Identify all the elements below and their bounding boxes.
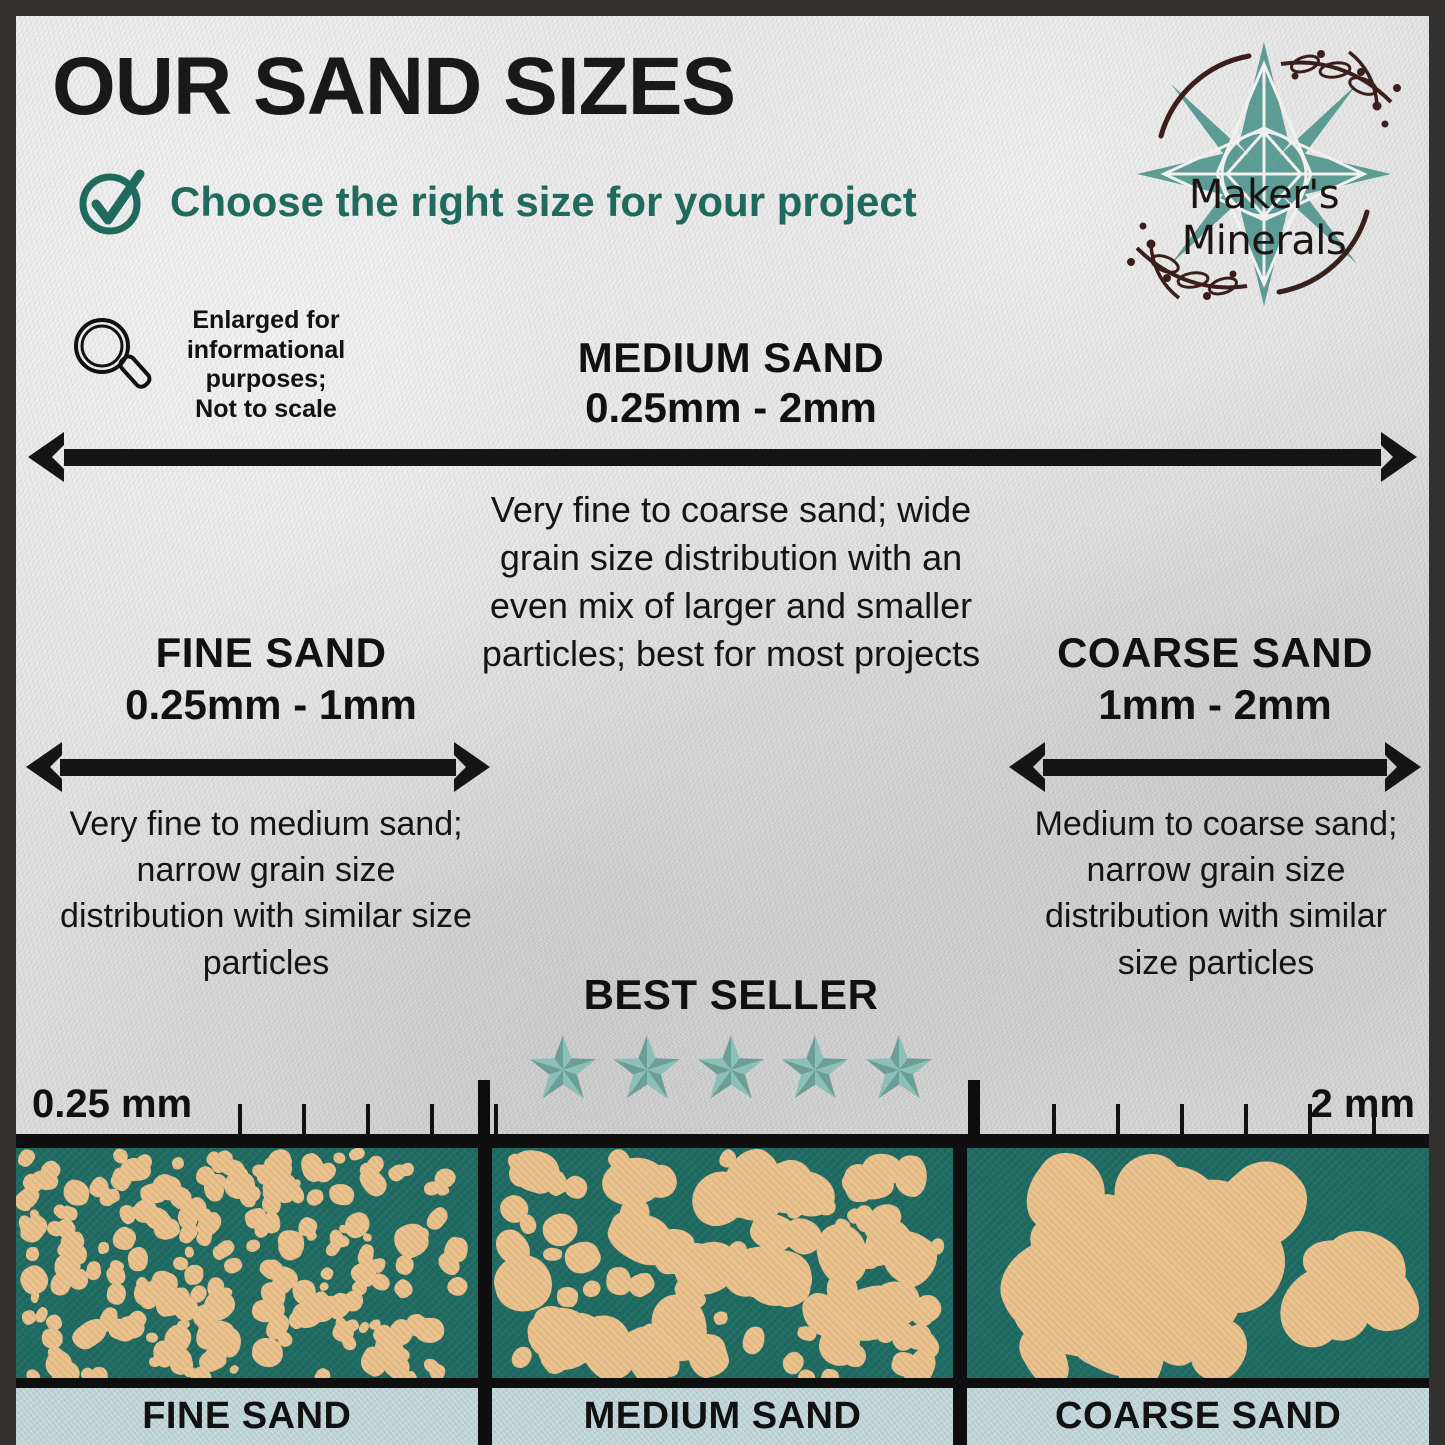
sand-grain [126,1246,148,1272]
sand-swatch-coarse-sand [967,1148,1429,1378]
sand-swatch-fine-sand [16,1148,478,1378]
sand-grain [306,1188,325,1206]
sand-grain [26,1246,40,1261]
sand-grain [205,1173,226,1189]
subtitle-row: Choose the right size for your project [76,166,917,238]
sand-grain [414,1317,444,1343]
brand-name: Maker's Minerals [1109,172,1419,264]
sand-grain [319,1265,335,1281]
sand-grain [222,1255,244,1275]
sand-grain [328,1183,355,1206]
ruler-minor-tick [1244,1104,1248,1138]
ruler-minor-tick [1372,1104,1376,1138]
sand-grain [741,1325,767,1356]
fine-sand-heading: FINE SAND 0.25mm - 1mm [36,629,506,729]
coarse-sand-name: COARSE SAND [1001,629,1429,677]
sand-grain [90,1366,110,1378]
sand-grain [712,1310,728,1325]
subtitle-text: Choose the right size for your project [170,178,917,226]
sand-grain [228,1363,240,1375]
disclaimer-block: Enlarged for informational purposes; Not… [66,306,366,424]
sand-sample-column: COARSE SAND [967,1148,1429,1445]
sand-grain [626,1177,646,1194]
sand-grain [543,1247,563,1262]
sand-grain [16,1261,53,1299]
sand-grain [423,1203,452,1233]
ruler-minor-tick [430,1104,434,1138]
sand-grain [892,1153,929,1198]
disclaimer-line-3: purposes; [166,365,366,395]
ruler-minor-tick [1052,1104,1056,1138]
sand-grain [98,1241,110,1253]
sand-grain [581,1278,603,1300]
coarse-sand-heading: COARSE SAND 1mm - 2mm [1001,629,1429,729]
sand-grain [206,1276,225,1299]
sand-grain [556,1286,578,1307]
coarse-sand-range: 1mm - 2mm [1001,681,1429,729]
fine-sand-range-arrow [16,738,500,796]
sand-grain [510,1345,533,1370]
disclaimer-text: Enlarged for informational purposes; Not… [166,306,366,424]
medium-sand-description: Very fine to coarse sand; wide grain siz… [466,486,996,678]
sand-grain [97,1186,110,1196]
sand-grain [184,1247,194,1258]
ruler-major-tick [968,1080,980,1138]
coarse-sand-range-arrow [1001,738,1429,796]
ruler-left-label: 0.25 mm [32,1082,192,1127]
sand-grain [183,1264,203,1285]
medium-sand-name: MEDIUM SAND [446,334,1016,381]
medium-sand-range-arrow [18,428,1427,486]
sand-grain [534,1305,568,1342]
ruler-minor-tick [1116,1104,1120,1138]
sand-sample-label: COARSE SAND [967,1388,1429,1445]
fine-sand-description: Very fine to medium sand; narrow grain s… [56,801,476,986]
sand-sample-column: FINE SAND [16,1148,478,1445]
page-title: OUR SAND SIZES [52,46,735,128]
fine-sand-name: FINE SAND [36,629,506,677]
sand-grain [245,1239,261,1253]
magnifier-icon [66,314,152,404]
sand-grain [333,1151,347,1164]
poster-frame: OUR SAND SIZES Choose the right size for… [0,0,1445,1445]
ruler-minor-tick [1308,1104,1312,1138]
sand-sample-label: FINE SAND [16,1388,478,1445]
scale-ruler: 0.25 mm 2 mm [16,1078,1429,1138]
sand-sample-label: MEDIUM SAND [492,1388,954,1445]
ruler-minor-tick [494,1104,498,1138]
ruler-major-tick [478,1080,490,1138]
sand-grain [391,1277,415,1301]
brand-logo: Maker's Minerals [1109,24,1419,324]
sand-grain [362,1232,372,1242]
medium-sand-range: 0.25mm - 2mm [446,383,1016,433]
sand-grain [444,1273,470,1299]
sand-grain [821,1368,839,1377]
coarse-sand-description: Medium to coarse sand; narrow grain size… [1016,801,1416,986]
sand-sample-strip: FINE SANDMEDIUM SANDCOARSE SAND [16,1134,1429,1445]
sand-grain [312,1366,333,1377]
sand-grain [204,1346,226,1369]
sand-grain [60,1178,91,1208]
disclaimer-line-2: informational [166,336,366,366]
medium-sand-heading: MEDIUM SAND 0.25mm - 2mm [446,334,1016,433]
sand-grain [170,1155,185,1169]
check-circle-icon [76,166,148,238]
sand-grain [399,1162,414,1176]
best-seller-label: BEST SELLER [446,971,1016,1019]
sand-grain [347,1148,366,1163]
ruler-minor-tick [302,1104,306,1138]
ruler-minor-tick [238,1104,242,1138]
sand-swatch-medium-sand [492,1148,954,1378]
disclaimer-line-1: Enlarged for [166,306,366,336]
poster-canvas: OUR SAND SIZES Choose the right size for… [16,16,1429,1445]
sand-grain [561,1172,591,1202]
ruler-minor-tick [366,1104,370,1138]
sand-grain [24,1366,42,1377]
ruler-minor-tick [1180,1104,1184,1138]
disclaimer-line-4: Not to scale [166,395,366,425]
ruler-right-label: 2 mm [1311,1082,1416,1127]
fine-sand-range: 0.25mm - 1mm [36,681,506,729]
sand-sample-column: MEDIUM SAND [492,1148,954,1445]
sand-grain [16,1148,38,1169]
